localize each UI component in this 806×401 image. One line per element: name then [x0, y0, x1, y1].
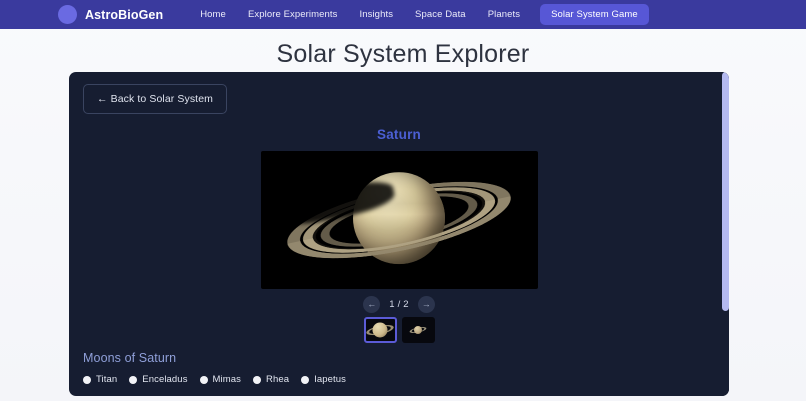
saturn-graphic — [274, 158, 524, 282]
moon-label: Rhea — [266, 374, 289, 385]
moon-label: Iapetus — [314, 374, 346, 385]
card-scrollbar-track[interactable] — [722, 72, 729, 396]
thumbnail-strip — [83, 317, 715, 343]
circle-logo-icon — [58, 5, 77, 24]
thumbnail-0[interactable] — [364, 317, 397, 343]
thumbnail-1[interactable] — [402, 317, 435, 343]
planet-image — [261, 151, 538, 289]
moon-icon — [200, 376, 208, 384]
image-counter: 1 / 2 — [389, 299, 409, 310]
nav-link-solar-system-game[interactable]: Solar System Game — [540, 4, 649, 25]
moons-heading: Moons of Saturn — [83, 351, 715, 365]
image-pager: ← 1 / 2 → — [83, 296, 715, 313]
moon-label: Mimas — [213, 374, 241, 385]
nav-link-explore-experiments[interactable]: Explore Experiments — [237, 5, 349, 24]
nav-link-planets[interactable]: Planets — [477, 5, 531, 24]
planet-detail-card: ← Back to Solar System Saturn ← 1 / 2 → — [69, 72, 729, 396]
moon-icon — [129, 376, 137, 384]
list-item[interactable]: Rhea — [253, 374, 289, 385]
card-scrollbar-thumb[interactable] — [722, 72, 729, 311]
prev-image-button[interactable]: ← — [363, 296, 380, 313]
moon-icon — [83, 376, 91, 384]
moon-list: Titan Enceladus Mimas Rhea Iapetus — [83, 374, 715, 385]
brand-name: AstroBioGen — [85, 8, 163, 22]
brand[interactable]: AstroBioGen — [58, 5, 163, 24]
top-navbar: AstroBioGen Home Explore Experiments Ins… — [0, 0, 806, 29]
nav-link-space-data[interactable]: Space Data — [404, 5, 477, 24]
moons-section: Moons of Saturn Titan Enceladus Mimas Rh… — [83, 351, 715, 385]
thumb-planet-icon — [414, 326, 422, 334]
back-to-solar-system-button[interactable]: ← Back to Solar System — [83, 84, 227, 114]
nav-links: Home Explore Experiments Insights Space … — [189, 4, 649, 25]
moon-icon — [301, 376, 309, 384]
list-item[interactable]: Titan — [83, 374, 117, 385]
page-title: Solar System Explorer — [0, 29, 806, 78]
nav-link-home[interactable]: Home — [189, 5, 237, 24]
nav-link-insights[interactable]: Insights — [349, 5, 405, 24]
next-image-button[interactable]: → — [418, 296, 435, 313]
moon-label: Titan — [96, 374, 117, 385]
thumb-planet-icon — [373, 323, 388, 338]
card-inner: ← Back to Solar System Saturn ← 1 / 2 → — [69, 72, 729, 396]
list-item[interactable]: Iapetus — [301, 374, 346, 385]
list-item[interactable]: Enceladus — [129, 374, 187, 385]
planet-name: Saturn — [83, 127, 715, 142]
list-item[interactable]: Mimas — [200, 374, 241, 385]
moon-label: Enceladus — [142, 374, 187, 385]
moon-icon — [253, 376, 261, 384]
